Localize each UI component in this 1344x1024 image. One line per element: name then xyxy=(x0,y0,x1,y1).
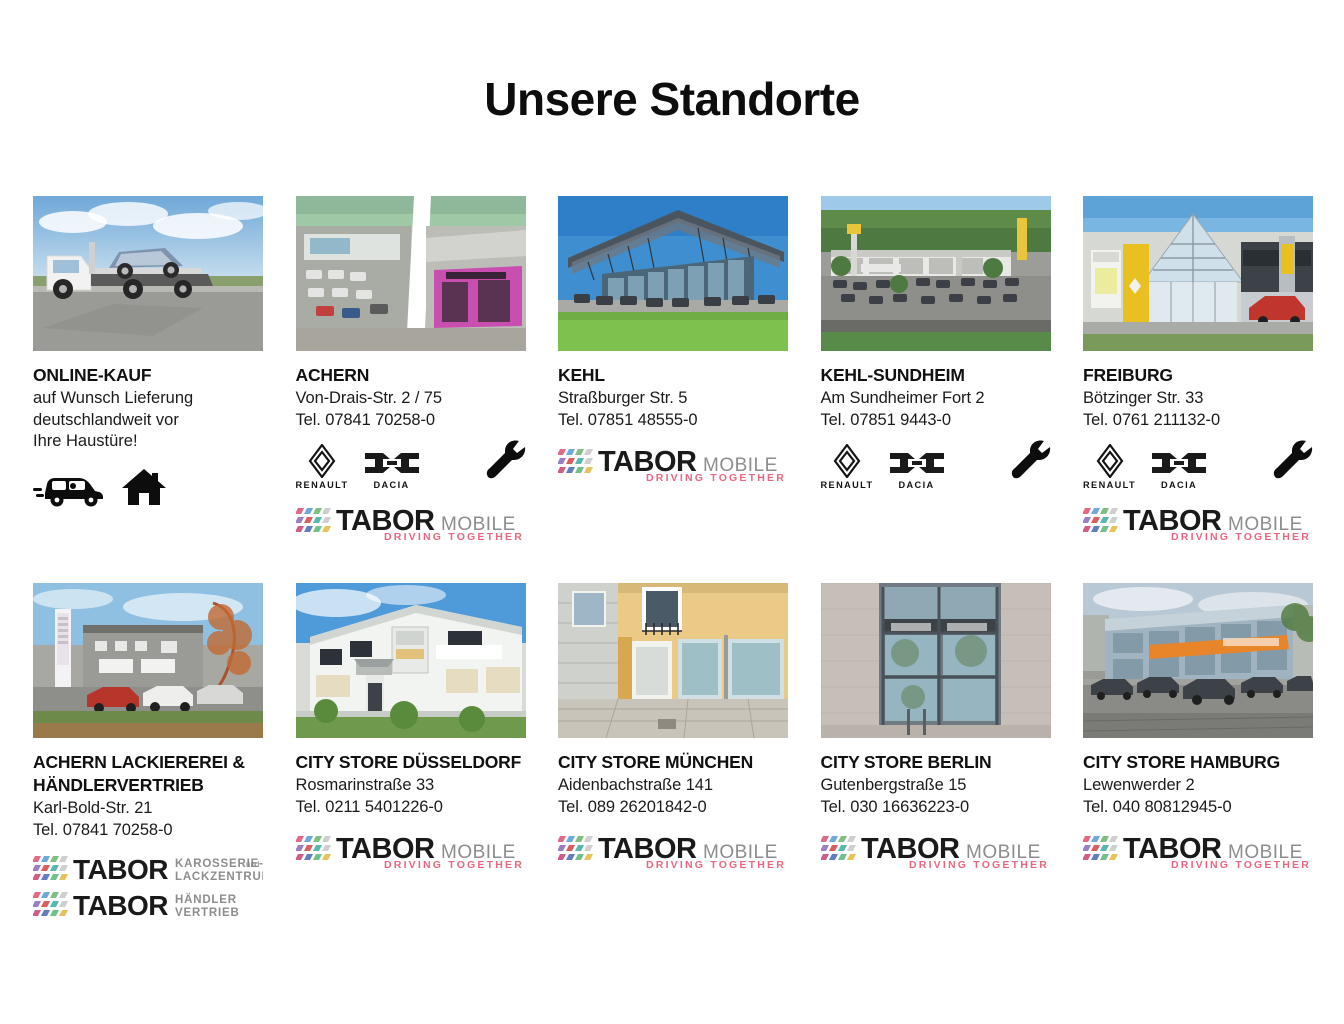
svg-text:DRIVING TOGETHER: DRIVING TOGETHER xyxy=(1171,859,1311,870)
page-title: Unsere Standorte xyxy=(0,72,1344,126)
dacia-logo: DACIA xyxy=(1150,448,1208,490)
card-body: ONLINE-KAUF auf Wunsch Lieferung deutsch… xyxy=(33,351,263,512)
location-card-city-store-hamburg[interactable]: CITY STORE HAMBURG Lewenwerder 2 Tel. 04… xyxy=(1083,583,1313,923)
card-body: FREIBURG Bötzinger Str. 33 Tel. 0761 211… xyxy=(1083,351,1313,542)
tabor-mobile-logo: TABOR MOBILE DRIVING TOGETHER xyxy=(1083,500,1313,542)
tabor-mobile-logo: TABOR MOBILE DRIVING TOGETHER xyxy=(821,828,1051,870)
card-body: KEHL-SUNDHEIM Am Sundheimer Fort 2 Tel. … xyxy=(821,351,1051,490)
house-icon xyxy=(121,467,167,512)
location-phone: Tel. 0761 211132-0 xyxy=(1083,410,1313,432)
dacia-logo: DACIA xyxy=(363,448,421,490)
location-name: CITY STORE MÜNCHEN xyxy=(558,752,788,773)
location-card-freiburg[interactable]: FREIBURG Bötzinger Str. 33 Tel. 0761 211… xyxy=(1083,196,1313,542)
card-body: ACHERN LACKIEREREI & HÄNDLERVERTRIEB Kar… xyxy=(33,738,263,923)
kehl-glass-showroom-photo xyxy=(558,196,788,351)
tabor-logo-stack: TABOR KAROSSERIE- und LACKZENTRUM TABOR xyxy=(33,853,263,923)
location-phone: Tel. 030 16636223-0 xyxy=(821,797,1051,819)
location-name: ONLINE-KAUF xyxy=(33,365,263,386)
renault-wordmark: RENAULT xyxy=(821,480,874,490)
card-body: CITY STORE MÜNCHEN Aidenbachstraße 141 T… xyxy=(558,738,788,870)
location-card-city-store-duesseldorf[interactable]: CITY STORE DÜSSELDORF Rosmarinstraße 33 … xyxy=(296,583,526,923)
muenchen-storefront-photo xyxy=(558,583,788,738)
duesseldorf-office-photo xyxy=(296,583,526,738)
service-icon-row xyxy=(33,467,263,512)
card-body: CITY STORE HAMBURG Lewenwerder 2 Tel. 04… xyxy=(1083,738,1313,870)
card-body: CITY STORE DÜSSELDORF Rosmarinstraße 33 … xyxy=(296,738,526,870)
location-name: ACHERN LACKIEREREI & xyxy=(33,752,263,773)
location-street: Von-Drais-Str. 2 / 75 xyxy=(296,388,526,410)
location-card-city-store-muenchen[interactable]: CITY STORE MÜNCHEN Aidenbachstraße 141 T… xyxy=(558,583,788,923)
card-body: CITY STORE BERLIN Gutenbergstraße 15 Tel… xyxy=(821,738,1051,870)
svg-text:HÄNDLER: HÄNDLER xyxy=(175,893,237,906)
renault-logo: RENAULT xyxy=(821,444,874,490)
svg-text:DRIVING TOGETHER: DRIVING TOGETHER xyxy=(384,859,524,870)
svg-text:DRIVING TOGETHER: DRIVING TOGETHER xyxy=(646,472,786,483)
dacia-wordmark: DACIA xyxy=(1161,480,1197,490)
tabor-mobile-logo: TABOR MOBILE DRIVING TOGETHER xyxy=(296,828,526,870)
dacia-wordmark: DACIA xyxy=(373,480,409,490)
renault-wordmark: RENAULT xyxy=(296,480,349,490)
location-street: Bötzinger Str. 33 xyxy=(1083,388,1313,410)
brand-logo-row: RENAULT DACIA xyxy=(296,442,526,490)
tabor-karosserie-logo: TABOR KAROSSERIE- und LACKZENTRUM xyxy=(33,853,263,887)
car-transporter-photo xyxy=(33,196,263,351)
car-icon xyxy=(33,469,105,512)
locations-grid-row-1: ONLINE-KAUF auf Wunsch Lieferung deutsch… xyxy=(33,196,1313,542)
location-street: Gutenbergstraße 15 xyxy=(821,775,1051,797)
location-description-line-3: Ihre Haustüre! xyxy=(33,431,263,453)
location-phone: Tel. 07851 9443-0 xyxy=(821,410,1051,432)
freiburg-renault-showroom-photo xyxy=(1083,196,1313,351)
card-body: KEHL Straßburger Str. 5 Tel. 07851 48555… xyxy=(558,351,788,483)
tabor-mobile-logo: TABOR MOBILE DRIVING TOGETHER xyxy=(558,828,788,870)
location-name: KEHL-SUNDHEIM xyxy=(821,365,1051,386)
svg-text:TABOR: TABOR xyxy=(73,854,168,885)
location-street: Lewenwerder 2 xyxy=(1083,775,1313,797)
achern-dealership-photo xyxy=(296,196,526,351)
renault-logo: RENAULT xyxy=(1083,444,1136,490)
location-street: Rosmarinstraße 33 xyxy=(296,775,526,797)
svg-text:DRIVING TOGETHER: DRIVING TOGETHER xyxy=(909,859,1049,870)
card-body: ACHERN Von-Drais-Str. 2 / 75 Tel. 07841 … xyxy=(296,351,526,542)
locations-page: Unsere Standorte xyxy=(0,0,1344,1024)
location-description-line-2: deutschlandweit vor xyxy=(33,410,263,432)
location-card-kehl-sundheim[interactable]: KEHL-SUNDHEIM Am Sundheimer Fort 2 Tel. … xyxy=(821,196,1051,542)
location-description-line-1: auf Wunsch Lieferung xyxy=(33,388,263,410)
svg-text:TABOR: TABOR xyxy=(73,890,168,921)
location-card-achern-lackiererei[interactable]: ACHERN LACKIEREREI & HÄNDLERVERTRIEB Kar… xyxy=(33,583,263,923)
location-card-online-kauf[interactable]: ONLINE-KAUF auf Wunsch Lieferung deutsch… xyxy=(33,196,263,542)
location-phone: Tel. 089 26201842-0 xyxy=(558,797,788,819)
location-street: Aidenbachstraße 141 xyxy=(558,775,788,797)
svg-text:DRIVING TOGETHER: DRIVING TOGETHER xyxy=(1171,531,1311,542)
location-name: KEHL xyxy=(558,365,788,386)
brand-logo-row: RENAULT DACIA xyxy=(1083,442,1313,490)
svg-text:und: und xyxy=(246,860,259,869)
location-name: CITY STORE HAMBURG xyxy=(1083,752,1313,773)
location-street: Straßburger Str. 5 xyxy=(558,388,788,410)
location-card-kehl[interactable]: KEHL Straßburger Str. 5 Tel. 07851 48555… xyxy=(558,196,788,542)
location-phone: Tel. 07841 70258-0 xyxy=(33,820,263,842)
svg-text:DRIVING TOGETHER: DRIVING TOGETHER xyxy=(384,531,524,542)
svg-text:DRIVING TOGETHER: DRIVING TOGETHER xyxy=(646,859,786,870)
location-phone: Tel. 07841 70258-0 xyxy=(296,410,526,432)
wrench-icon xyxy=(1273,439,1313,488)
location-card-city-store-berlin[interactable]: CITY STORE BERLIN Gutenbergstraße 15 Tel… xyxy=(821,583,1051,923)
location-phone: Tel. 07851 48555-0 xyxy=(558,410,788,432)
hamburg-glass-building-photo xyxy=(1083,583,1313,738)
berlin-storefront-photo xyxy=(821,583,1051,738)
tabor-mobile-logo: TABOR MOBILE DRIVING TOGETHER xyxy=(296,500,526,542)
renault-logo: RENAULT xyxy=(296,444,349,490)
kehl-sundheim-aerial-photo xyxy=(821,196,1051,351)
svg-text:LACKZENTRUM: LACKZENTRUM xyxy=(175,871,263,883)
brand-logo-row: RENAULT DACIA xyxy=(821,442,1051,490)
locations-grid-row-2: ACHERN LACKIEREREI & HÄNDLERVERTRIEB Kar… xyxy=(33,583,1313,923)
location-street: Am Sundheimer Fort 2 xyxy=(821,388,1051,410)
tabor-haendler-logo: TABOR HÄNDLER VERTRIEB xyxy=(33,889,263,923)
location-name: CITY STORE BERLIN xyxy=(821,752,1051,773)
wrench-icon xyxy=(1011,439,1051,488)
location-phone: Tel. 040 80812945-0 xyxy=(1083,797,1313,819)
location-name: ACHERN xyxy=(296,365,526,386)
dacia-wordmark: DACIA xyxy=(898,480,934,490)
dacia-logo: DACIA xyxy=(888,448,946,490)
renault-wordmark: RENAULT xyxy=(1083,480,1136,490)
location-name: CITY STORE DÜSSELDORF xyxy=(296,752,526,773)
tabor-mobile-logo: TABOR MOBILE DRIVING TOGETHER xyxy=(1083,828,1313,870)
svg-text:VERTRIEB: VERTRIEB xyxy=(175,907,240,919)
location-phone: Tel. 0211 5401226-0 xyxy=(296,797,526,819)
tabor-mobile-logo: TABOR MOBILE DRIVING TOGETHER xyxy=(558,441,788,483)
location-name: FREIBURG xyxy=(1083,365,1313,386)
location-name-line-2: HÄNDLERVERTRIEB xyxy=(33,775,263,796)
location-street: Karl-Bold-Str. 21 xyxy=(33,798,263,820)
location-card-achern[interactable]: ACHERN Von-Drais-Str. 2 / 75 Tel. 07841 … xyxy=(296,196,526,542)
wrench-icon xyxy=(486,439,526,488)
achern-lackiererei-photo xyxy=(33,583,263,738)
